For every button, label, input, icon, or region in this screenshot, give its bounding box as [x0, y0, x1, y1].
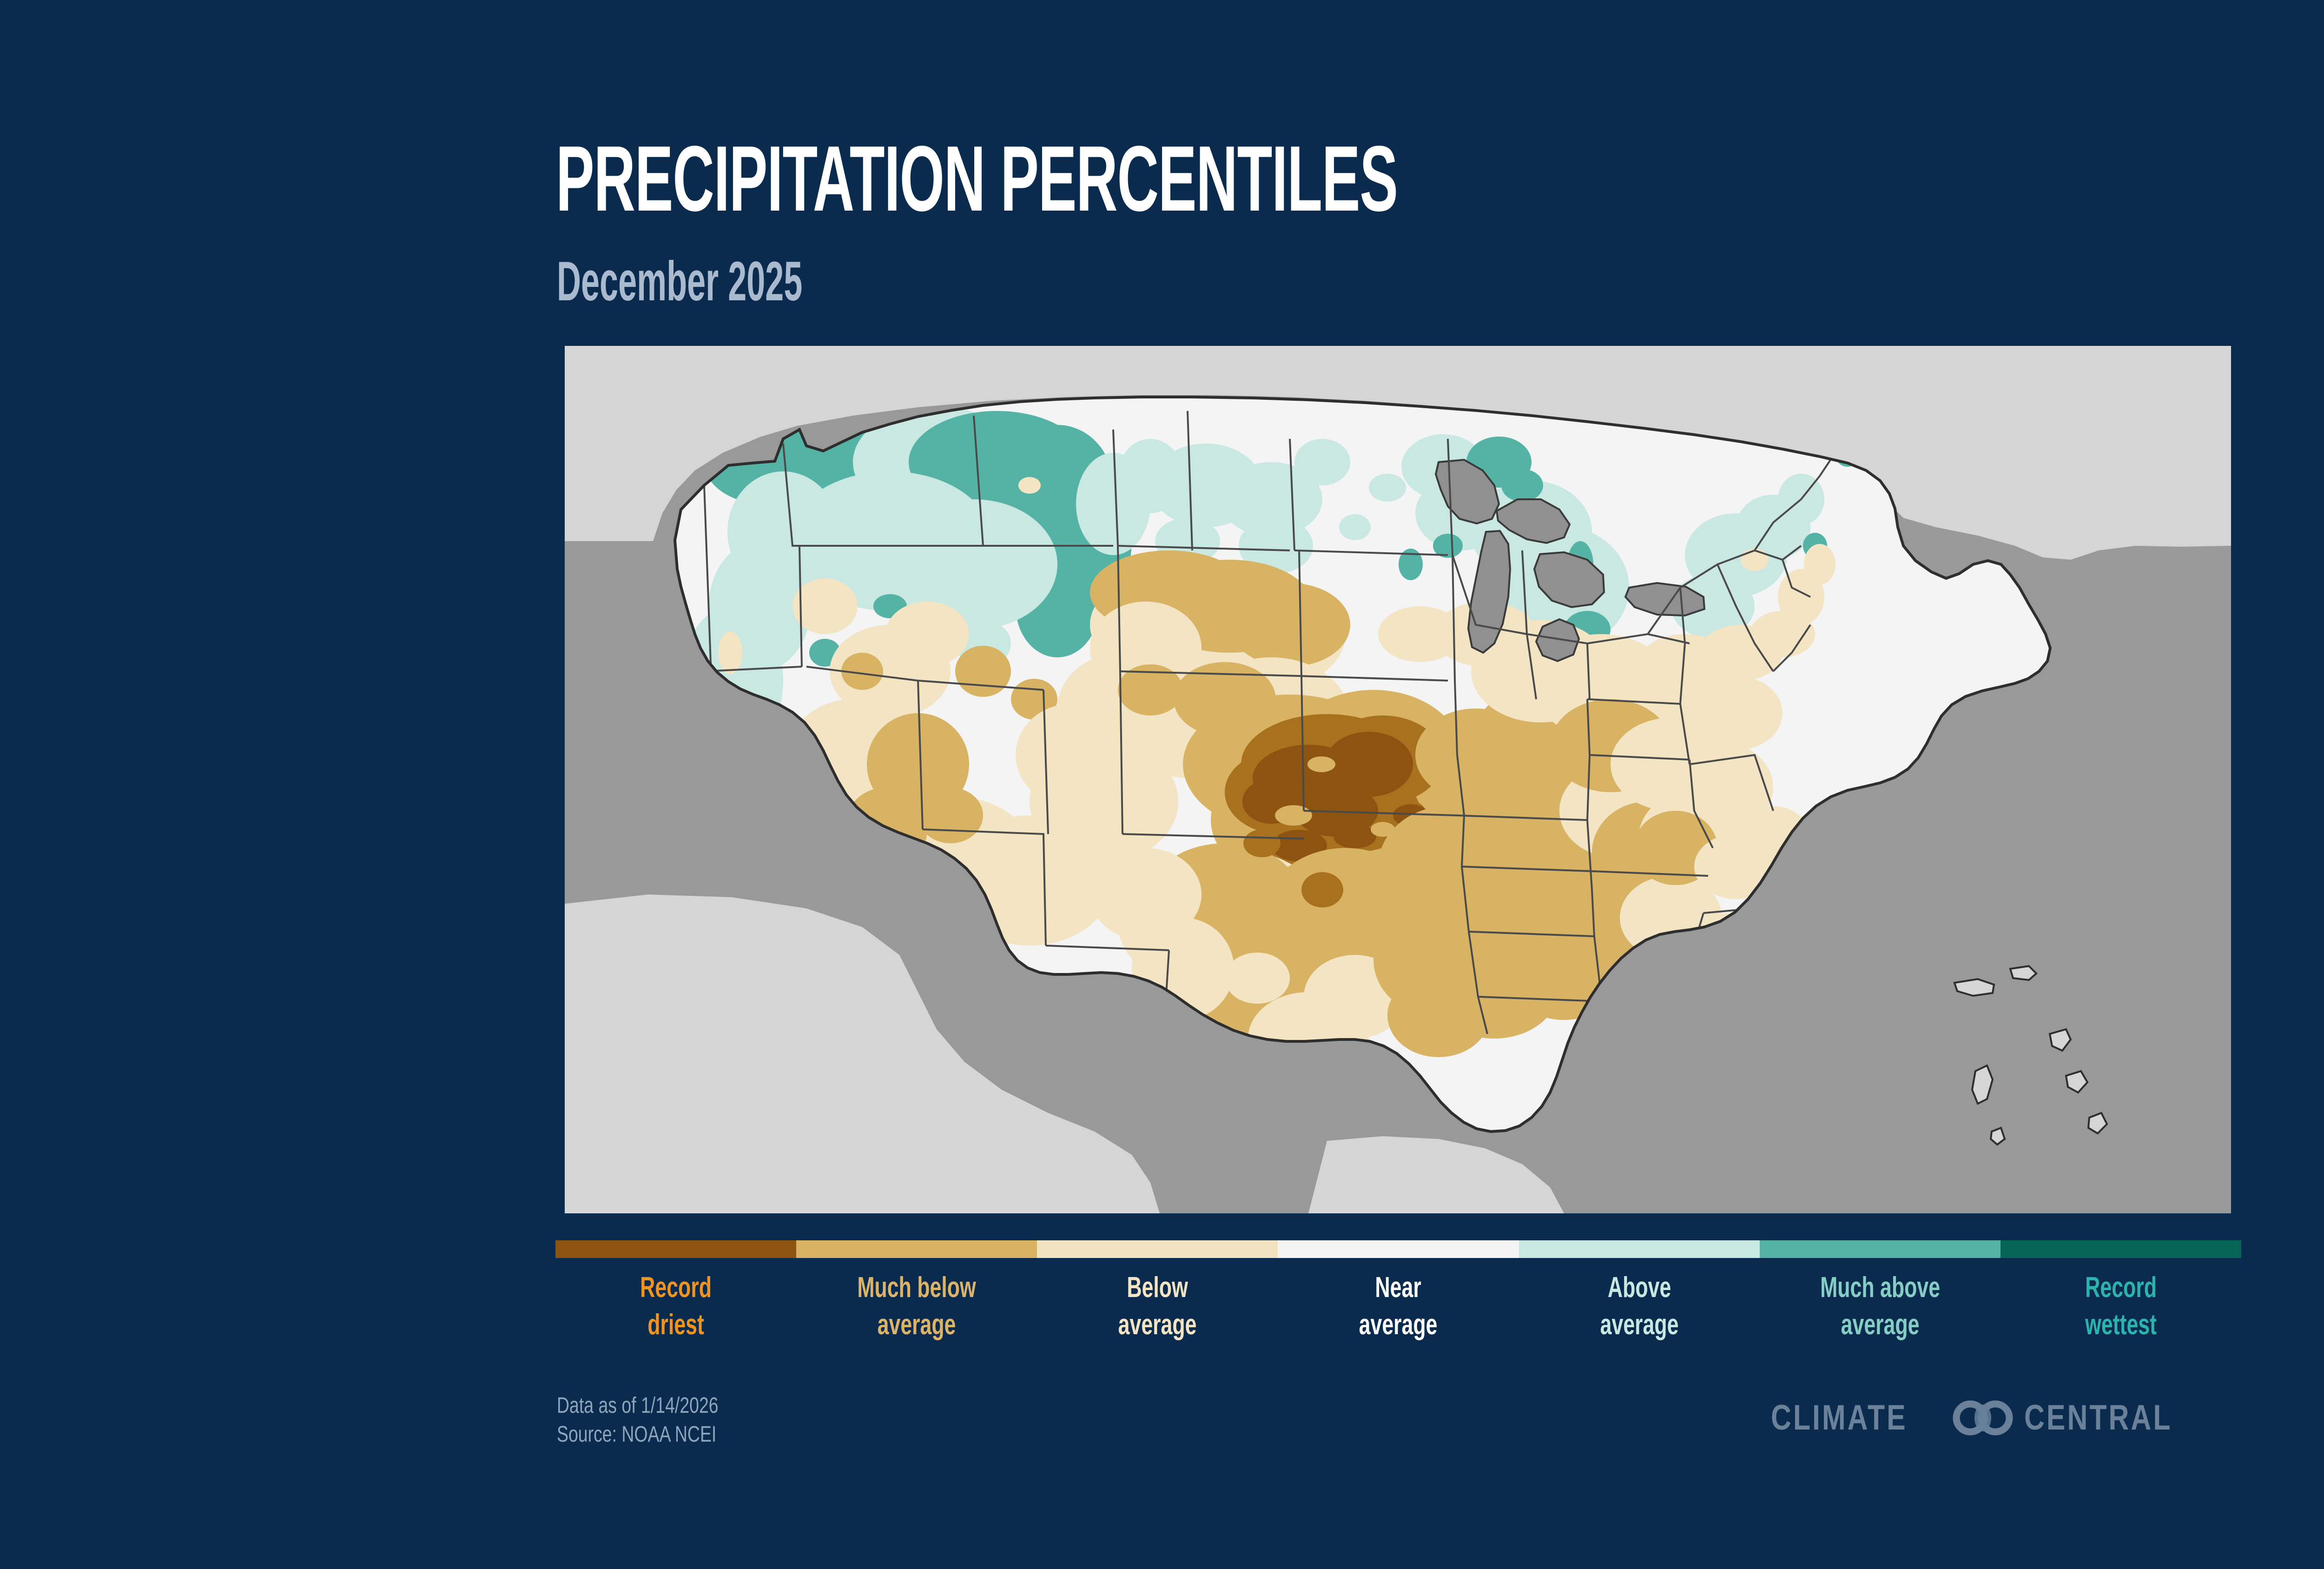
legend-label-line2: average — [1793, 1306, 1967, 1344]
legend-label-line2: average — [1552, 1306, 1726, 1344]
overlapping-circles-icon — [1948, 1400, 2018, 1436]
legend-label-line1: Below — [1071, 1269, 1244, 1306]
infographic-canvas: PRECIPITATION PERCENTILES December 2025 — [0, 0, 2324, 1569]
source-text: Source: NOAA NCEI — [557, 1420, 719, 1449]
legend-label-line1: Much below — [830, 1269, 1004, 1306]
page-subtitle: December 2025 — [557, 253, 802, 309]
legend-labels: Record driest Much below average Below a… — [555, 1269, 2241, 1344]
legend-label-much-below-average: Much below average — [830, 1269, 1004, 1344]
legend-swatch-record-wettest — [2000, 1240, 2241, 1258]
legend-label-line2: average — [1312, 1306, 1485, 1344]
legend-label-above-average: Above average — [1552, 1269, 1726, 1344]
legend-swatch-much-below-average — [796, 1240, 1037, 1258]
legend-swatch-above-average — [1519, 1240, 1760, 1258]
legend-label-record-wettest: Record wettest — [2034, 1269, 2207, 1344]
legend-label-near-average: Near average — [1312, 1269, 1485, 1344]
legend-label-line1: Near — [1312, 1269, 1485, 1306]
legend-swatch-much-above-average — [1760, 1240, 2000, 1258]
climate-central-logo[interactable]: CLIMATE CENTRAL — [1771, 1399, 2209, 1437]
legend-label-line2: wettest — [2034, 1306, 2207, 1344]
logo-word-climate: CLIMATE — [1771, 1400, 1908, 1436]
legend-label-much-above-average: Much above average — [1793, 1269, 1967, 1344]
legend-label-below-average: Below average — [1071, 1269, 1244, 1344]
legend-swatch-below-average — [1037, 1240, 1278, 1258]
legend-label-line2: average — [1071, 1306, 1244, 1344]
legend-label-line2: driest — [589, 1306, 763, 1344]
legend: Record driest Much below average Below a… — [555, 1240, 2241, 1344]
legend-swatch-record-driest — [555, 1240, 796, 1258]
precipitation-percentile-map — [565, 346, 2231, 1213]
map-graphic — [565, 346, 2231, 1213]
data-as-of-text: Data as of 1/14/2026 — [557, 1391, 719, 1420]
legend-color-bar — [555, 1240, 2241, 1258]
legend-label-line1: Above — [1552, 1269, 1726, 1306]
legend-label-line1: Record — [2034, 1269, 2207, 1306]
legend-label-line2: average — [830, 1306, 1004, 1344]
source-credit: Data as of 1/14/2026 Source: NOAA NCEI — [557, 1391, 719, 1449]
legend-label-line1: Record — [589, 1269, 763, 1306]
legend-swatch-near-average — [1278, 1240, 1519, 1258]
legend-label-line1: Much above — [1793, 1269, 1967, 1306]
legend-label-record-driest: Record driest — [589, 1269, 763, 1344]
page-title: PRECIPITATION PERCENTILES — [556, 132, 1398, 225]
logo-word-central: CENTRAL — [2024, 1400, 2172, 1436]
